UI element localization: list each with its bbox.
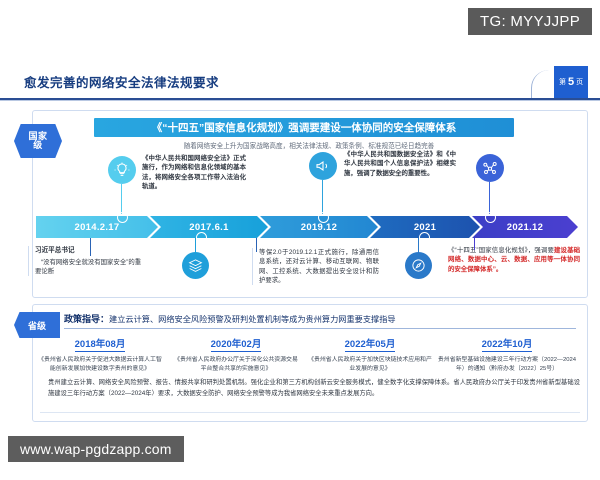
provincial-footer-text: 贵州建立云计算、网络安全风险预警、报告、情报共享和研判处置机制。强化企业和第三方…: [48, 378, 580, 399]
note-2021-12: 《“十四五”国家信息化规划》，强调要建设基础网络、数据中心、云、数据、应用等一体…: [448, 246, 580, 274]
page-number: 5: [568, 76, 574, 88]
provincial-section: 省级 政策指导：建立云计算、网络安全风险预警及研判处置机制等成为贵州算力网重要支…: [14, 304, 586, 420]
policy-doc-2: 《贵州省人民政府办公厅关于深化公共资源交易平台整合共享的实施意见》: [172, 356, 300, 374]
layers-icon: [182, 252, 209, 279]
network-icon: [476, 154, 504, 182]
note-2014-body: “没有网络安全就没有国家安全”的重要论断: [35, 258, 147, 277]
national-band-subtitle: 随着网络安全上升为国家战略高度，相关法律法规、政策条例、标准规范已经日趋完善: [94, 140, 524, 150]
site-watermark: www.wap-pgdzapp.com: [8, 436, 184, 462]
timeline-segment-2014[interactable]: 2014.2.17: [36, 216, 158, 238]
stem-2019: [322, 180, 323, 214]
policy-date-3: 2022年05月: [345, 336, 396, 352]
slide-root: TG: MYYJJPP 愈发完善的网络安全法律法规要求 第 5 页 国家 级 《…: [0, 0, 600, 480]
policy-column-1[interactable]: 2018年08月 《贵州省人民政府关于促进大数据云计算人工智能创新发展加快建设数…: [36, 334, 164, 374]
policy-date-2: 2020年02月: [211, 336, 262, 352]
policy-doc-3: 《贵州省人民政府关于加快区块链技术应用和产业发展的意见》: [306, 356, 434, 374]
page-curve-decoration: [531, 70, 554, 100]
note-2014: 习近平总书记 “没有网络安全就没有国家安全”的重要论断: [28, 246, 147, 276]
timeline-date-2019: 2019.12: [301, 222, 337, 233]
provincial-footer-divider: [40, 412, 580, 413]
policy-guidance-heading: 政策指导：建立云计算、网络安全风险预警及研判处置机制等成为贵州算力网重要支撑指导: [64, 312, 580, 325]
note-2019: 等保2.0于2019.12.1正式施行，除通用信息系统，还对云计算、移动互联网、…: [252, 248, 379, 285]
note-2017: 《中华人民共和国网络安全法》正式施行，作为网络和信息化领域的基本法，将网络安全各…: [142, 154, 246, 191]
stem-2014-lower: [90, 238, 91, 256]
timeline-node-2019: [318, 212, 329, 223]
timeline-date-2021: 2021: [414, 222, 436, 233]
note-2021: 《中华人民共和国数据安全法》和《中华人民共和国个人信息保护法》相继实施，强调了数…: [344, 150, 456, 178]
policy-heading-divider: [64, 328, 576, 329]
timeline-node-2021-12: [485, 212, 496, 223]
national-band-title: 《“十四五”国家信息化规划》强调要建设一体协同的安全保障体系: [94, 118, 514, 137]
page-number-chip: 第 5 页: [554, 66, 588, 98]
page-suffix: 页: [576, 77, 583, 87]
telegram-watermark: TG: MYYJJPP: [468, 8, 592, 35]
national-timeline: 2014.2.17 2017.6.1 2019.12 2021 2021.12: [36, 216, 578, 238]
megaphone-icon: [309, 152, 337, 180]
timeline-node-2014: [117, 212, 128, 223]
stem-2021-12-lower: [474, 238, 475, 250]
policy-column-3[interactable]: 2022年05月 《贵州省人民政府关于加快区块链技术应用和产业发展的意见》: [306, 334, 434, 374]
policy-date-4: 2022年10月: [482, 336, 533, 352]
note-2017-text: 《中华人民共和国网络安全法》正式施行，作为网络和信息化领域的基本法，将网络安全各…: [142, 155, 246, 190]
stem-2021-12: [489, 182, 490, 214]
page-title: 愈发完善的网络安全法律法规要求: [24, 72, 219, 91]
note-2019-text: 等保2.0于2019.12.1正式施行，除通用信息系统，还对云计算、移动互联网、…: [259, 249, 379, 284]
policy-guidance-label: 政策指导：: [64, 314, 109, 324]
policy-column-2[interactable]: 2020年02月 《贵州省人民政府办公厅关于深化公共资源交易平台整合共享的实施意…: [172, 334, 300, 374]
policy-doc-4: 贵州省新型基础设施建设三年行动方案（2022—2024年）的通知（黔府办发〔20…: [434, 356, 580, 374]
timeline-node-2021: [419, 232, 430, 243]
policy-date-1: 2018年08月: [75, 336, 126, 352]
slide-header: 愈发完善的网络安全法律法规要求 第 5 页: [0, 72, 600, 100]
note-2021-text: 《中华人民共和国数据安全法》和《中华人民共和国个人信息保护法》相继实施，强调了数…: [344, 151, 456, 177]
national-level-badge: 国家 级: [14, 124, 62, 158]
note-2021-12-post: ”。: [493, 266, 503, 273]
provincial-level-badge: 省级: [14, 312, 60, 338]
timeline-date-2017: 2017.6.1: [189, 222, 228, 233]
stem-2019-lower: [256, 238, 257, 252]
national-section: 国家 级 《“十四五”国家信息化规划》强调要建设一体协同的安全保障体系 随着网络…: [14, 106, 586, 296]
policy-guidance-text: 建立云计算、网络安全风险预警及研判处置机制等成为贵州算力网重要支撑指导: [109, 315, 396, 324]
compass-icon: [405, 252, 432, 279]
bulb-icon: [108, 156, 136, 184]
policy-doc-1: 《贵州省人民政府关于促进大数据云计算人工智能创新发展加快建设数字贵州的意见》: [36, 356, 164, 374]
timeline-segment-2017[interactable]: 2017.6.1: [150, 216, 268, 238]
note-2021-12-pre: 《“十四五”国家信息化规划》，强调要: [448, 247, 554, 254]
timeline-node-2017: [196, 232, 207, 243]
policy-column-4[interactable]: 2022年10月 贵州省新型基础设施建设三年行动方案（2022—2024年）的通…: [434, 334, 580, 374]
page-prefix: 第: [559, 77, 566, 87]
timeline-date-2014: 2014.2.17: [75, 222, 120, 233]
header-divider-light: [0, 100, 600, 101]
national-level-label-line2: 级: [33, 141, 43, 150]
stem-2014: [121, 184, 122, 214]
timeline-date-2021-12: 2021.12: [507, 222, 543, 233]
